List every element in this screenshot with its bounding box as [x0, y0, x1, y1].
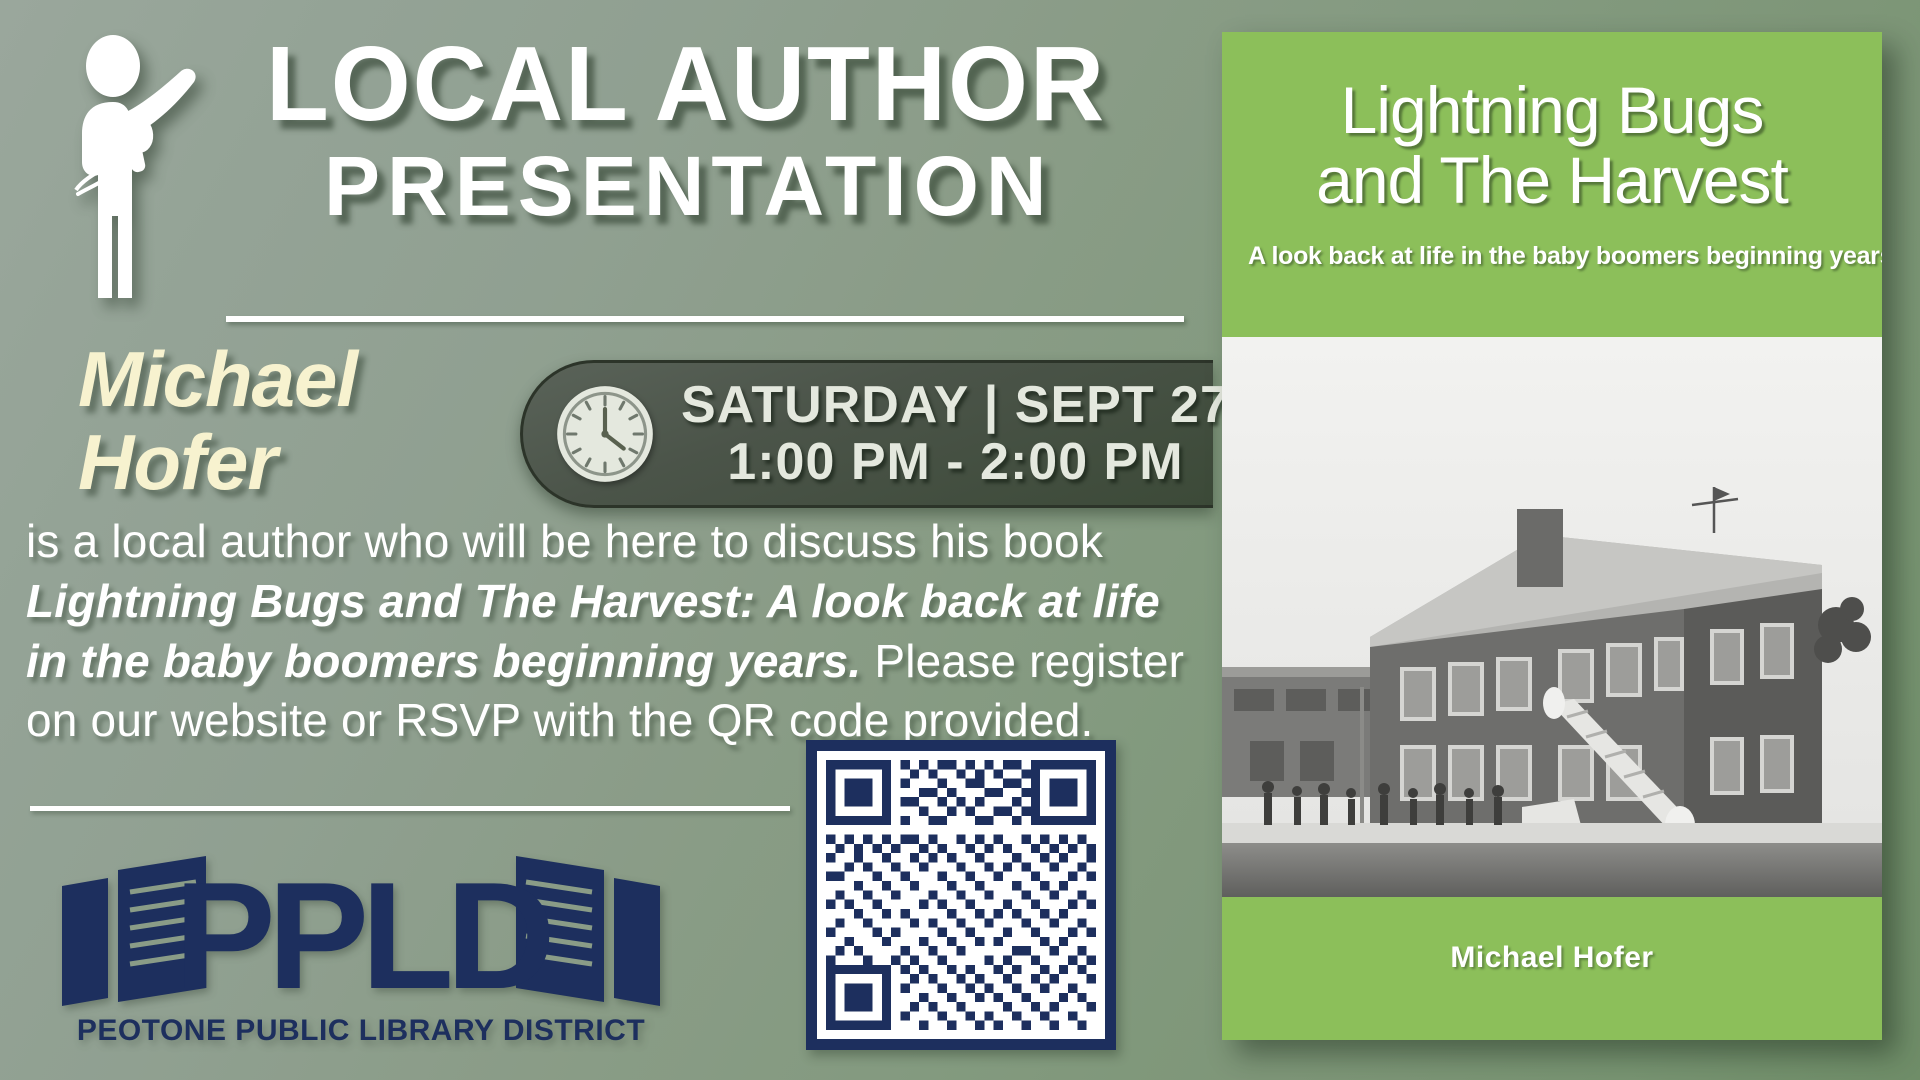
- book-cover-title: Lightning Bugs and The Harvest: [1248, 76, 1856, 216]
- event-description: is a local author who will be here to di…: [26, 512, 1186, 751]
- clock-icon: [553, 382, 657, 486]
- book-cover-header: Lightning Bugs and The Harvest A look ba…: [1222, 32, 1882, 337]
- poster-title-main: LOCAL AUTHOR: [266, 34, 1178, 136]
- divider-top: [226, 316, 1184, 322]
- author-name: MichaelHofer: [78, 338, 498, 503]
- date-time-badge: SATURDAY | SEPT 27 1:00 PM - 2:00 PM: [520, 360, 1213, 508]
- date-time-text: SATURDAY | SEPT 27 1:00 PM - 2:00 PM: [681, 378, 1230, 490]
- event-date: SATURDAY | SEPT 27: [681, 378, 1230, 433]
- poster-title-sub: PRESENTATION: [324, 142, 1206, 230]
- schoolhouse-photo-illustration: [1222, 337, 1882, 897]
- book-cover-subtitle: A look back at life in the baby boomers …: [1248, 242, 1856, 271]
- title-block: LOCAL AUTHOR PRESENTATION: [266, 34, 1206, 230]
- event-time: 1:00 PM - 2:00 PM: [681, 435, 1230, 490]
- speaker-presenter-icon: [56, 30, 206, 300]
- book-title-line2: and The Harvest: [1248, 146, 1856, 216]
- book-title-line1: Lightning Bugs: [1248, 76, 1856, 146]
- left-content-column: LOCAL AUTHOR PRESENTATION MichaelHofer: [0, 0, 1218, 1080]
- book-cover-photo: [1222, 337, 1882, 897]
- qr-code-modules: [826, 760, 1096, 1030]
- qr-code[interactable]: [806, 740, 1116, 1050]
- description-part1: is a local author who will be here to di…: [26, 515, 1103, 567]
- book-cover: Lightning Bugs and The Harvest A look ba…: [1222, 32, 1882, 1040]
- svg-text:PEOTONE PUBLIC LIBRARY DISTRIC: PEOTONE PUBLIC LIBRARY DISTRICT: [77, 1014, 645, 1047]
- book-cover-author: Michael Hofer: [1222, 897, 1882, 1040]
- svg-text:PPLD: PPLD: [174, 851, 550, 1021]
- divider-bottom: [30, 806, 790, 811]
- ppld-library-logo: PPLD PEOTONE PUBLIC LIBRARY DISTRICT: [56, 848, 666, 1048]
- poster-header: LOCAL AUTHOR PRESENTATION: [38, 22, 1198, 307]
